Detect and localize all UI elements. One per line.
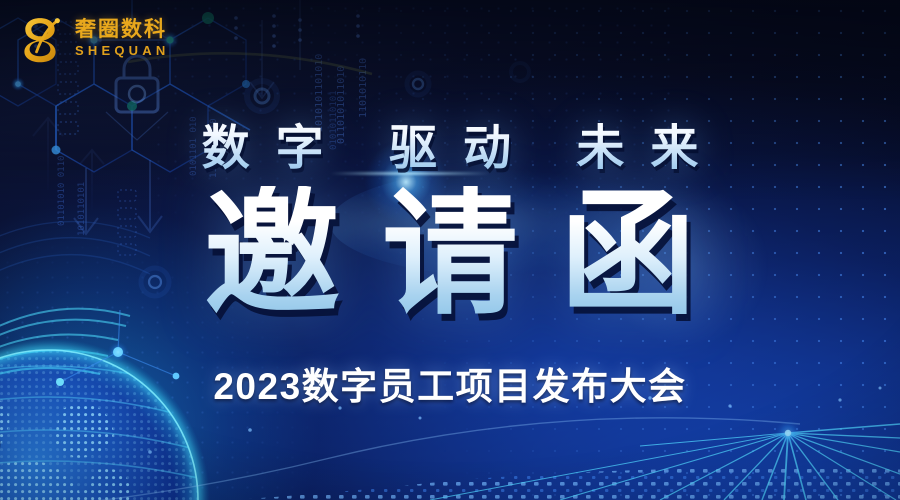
- invitation-banner: 01101010 0110 1010110101 0101101 010 110…: [0, 0, 900, 500]
- page-title: 邀请函: [0, 186, 900, 322]
- event-subtitle: 2023数字员工项目发布大会: [0, 356, 900, 410]
- brand-name-cn: 奢圈数科: [75, 19, 169, 40]
- brand-name-en: SHEQUAN: [75, 44, 169, 57]
- shequan-monogram-icon: [14, 12, 66, 64]
- banner-content: 数字 驱动 未来 邀请函 2023数字员工项目发布大会: [0, 0, 900, 500]
- brand-logo[interactable]: 奢圈数科 SHEQUAN: [14, 12, 169, 64]
- brand-logo-text: 奢圈数科 SHEQUAN: [75, 19, 169, 57]
- kicker-text: 数字 驱动 未来: [0, 108, 900, 178]
